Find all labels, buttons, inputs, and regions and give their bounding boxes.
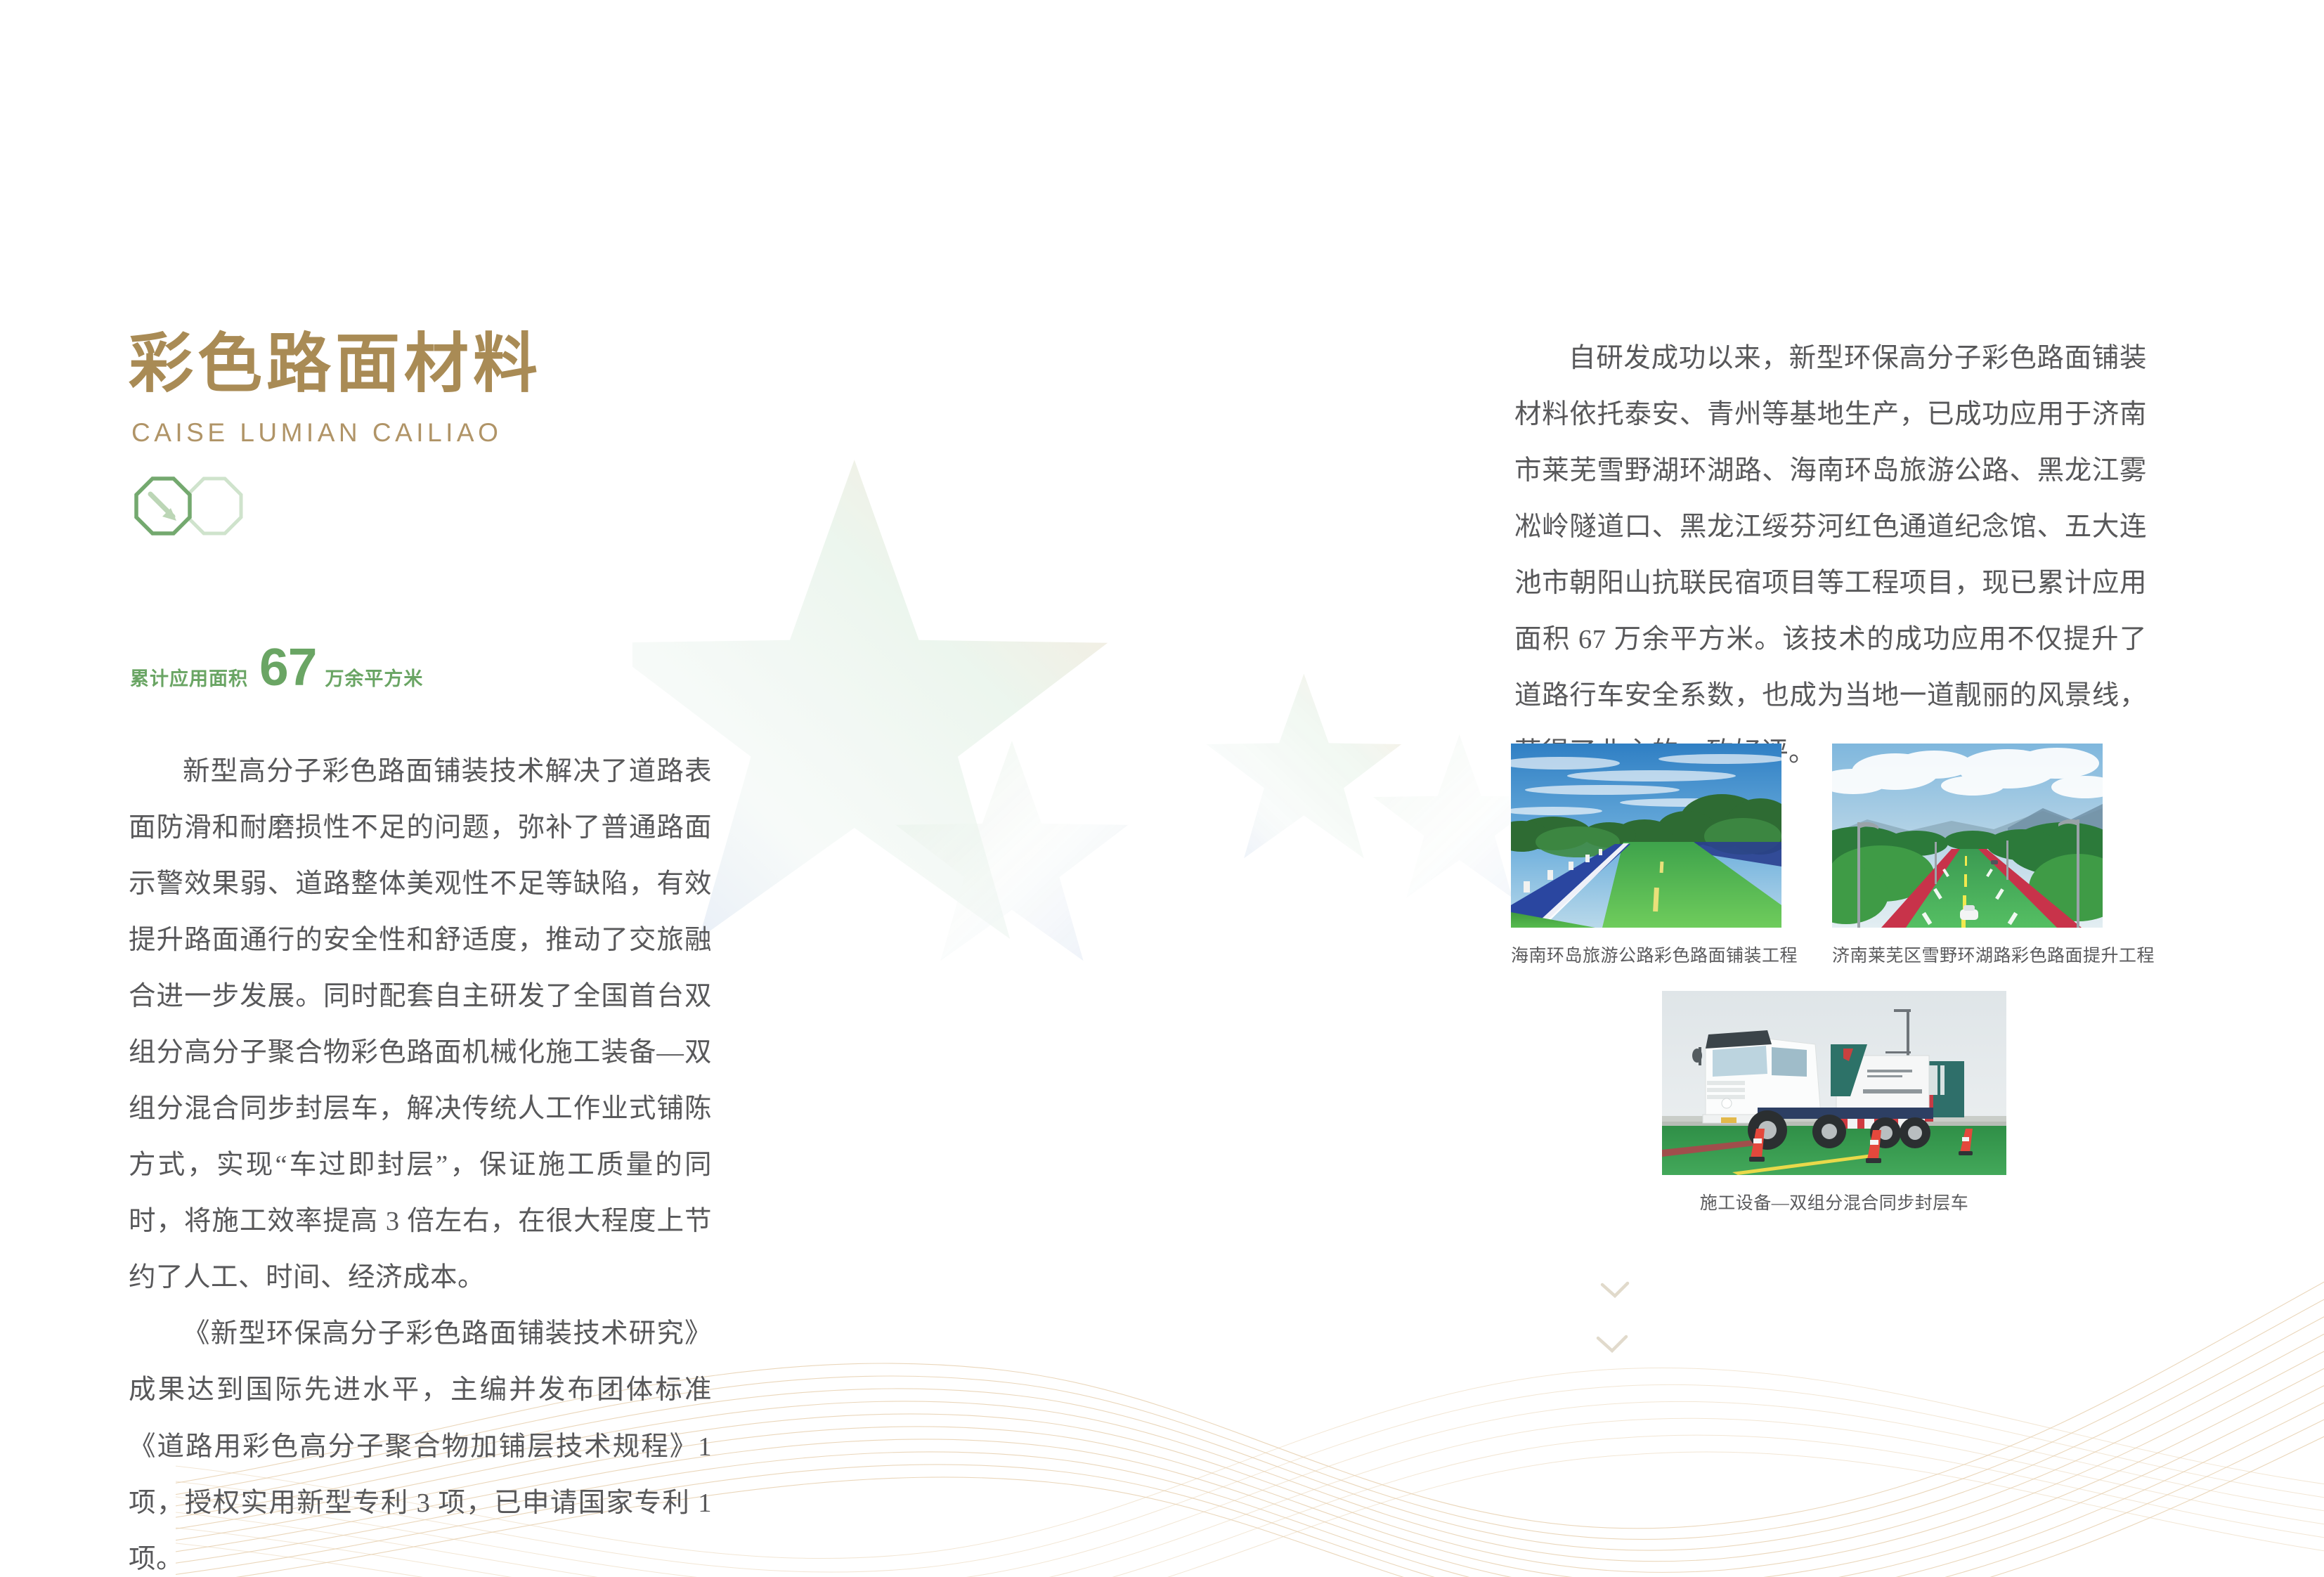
brochure-page: 彩色路面材料 CAISE LUMIAN CAILIAO 累计应用面积 67 万余… <box>0 0 2324 1577</box>
photo-caption: 济南莱芜区雪野环湖路彩色路面提升工程 <box>1832 942 2103 967</box>
octagon-arrow-icon <box>136 479 190 533</box>
stat-label: 累计应用面积 <box>130 663 248 691</box>
stat-unit: 万余平方米 <box>325 663 423 691</box>
photo-caption: 海南环岛旅游公路彩色路面铺装工程 <box>1511 942 1781 967</box>
photo-two-component-synchronous-seal-truck[interactable] <box>1662 991 2006 1175</box>
stat-value: 67 <box>259 637 316 697</box>
project-photo-gallery: 海南环岛旅游公路彩色路面铺装工程 <box>1511 744 2157 1214</box>
page-title-pinyin: CAISE LUMIAN CAILIAO <box>131 418 712 448</box>
right-body-text: 自研发成功以来，新型环保高分子彩色路面铺装材料依托泰安、青州等基地生产，已成功应… <box>1514 330 2147 781</box>
photo-cell-jinan: 济南莱芜区雪野环湖路彩色路面提升工程 <box>1832 744 2103 967</box>
left-paragraph-2: 《新型环保高分子彩色路面铺装技术研究》成果达到国际先进水平，主编并发布团体标准《… <box>129 1306 712 1577</box>
right-paragraph-1: 自研发成功以来，新型环保高分子彩色路面铺装材料依托泰安、青州等基地生产，已成功应… <box>1514 330 2147 781</box>
photo-hainan-island-tourist-highway[interactable] <box>1511 744 1781 928</box>
photo-jinan-laiwu-xueye-lake-road[interactable] <box>1832 744 2103 928</box>
cumulative-area-stat: 累计应用面积 67 万余平方米 <box>130 637 712 697</box>
photo-cell-hainan: 海南环岛旅游公路彩色路面铺装工程 <box>1511 744 1781 967</box>
photo-cell-truck: 施工设备—双组分混合同步封层车 <box>1662 991 2006 1214</box>
photo-caption: 施工设备—双组分混合同步封层车 <box>1662 1189 2006 1214</box>
bird-glyphs-decoration <box>1581 1265 1806 1406</box>
page-title-chinese: 彩色路面材料 <box>129 330 712 398</box>
octagon-outline-icon <box>188 479 241 533</box>
photo-row-top: 海南环岛旅游公路彩色路面铺装工程 <box>1511 744 2157 967</box>
right-column: 自研发成功以来，新型环保高分子彩色路面铺装材料依托泰安、青州等基地生产，已成功应… <box>1514 330 2147 781</box>
left-paragraph-1: 新型高分子彩色路面铺装技术解决了道路表面防滑和耐磨损性不足的问题，弥补了普通路面… <box>129 744 712 1306</box>
photo-row-bottom: 施工设备—双组分混合同步封层车 <box>1511 991 2157 1214</box>
pastel-stars-decoration <box>632 351 1511 1054</box>
left-body-text: 新型高分子彩色路面铺装技术解决了道路表面防滑和耐磨损性不足的问题，弥补了普通路面… <box>129 744 712 1577</box>
left-column: 彩色路面材料 CAISE LUMIAN CAILIAO 累计应用面积 67 万余… <box>129 330 712 1577</box>
octagon-badge-group <box>130 473 264 550</box>
